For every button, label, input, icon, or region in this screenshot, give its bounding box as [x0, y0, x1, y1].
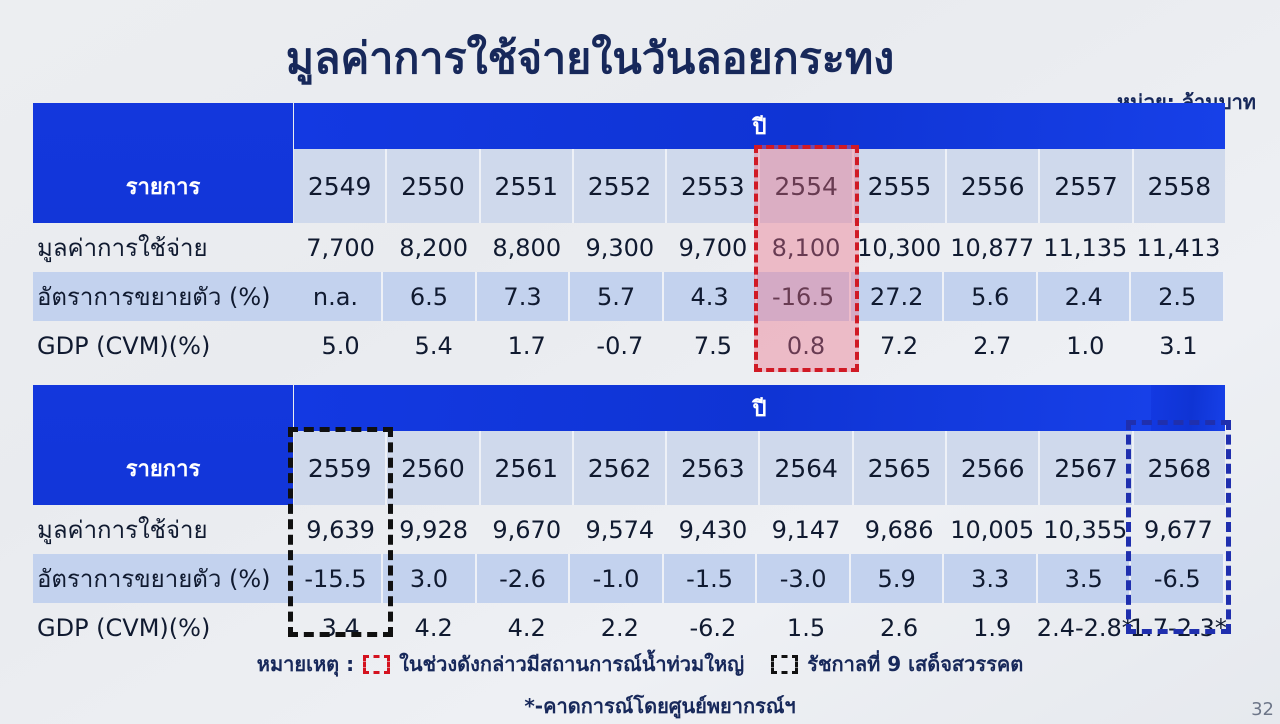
cell-gdp-2557: 1.0: [1039, 321, 1132, 370]
cell-spending-2553: 9,700: [666, 223, 759, 272]
cell-growth-rate-2560: 3.0: [383, 554, 477, 603]
cell-growth-rate-2562: -1.0: [570, 554, 664, 603]
row-label-growth-rate: อัตราการขยายตัว (%): [33, 554, 290, 603]
page-title: มูลค่าการใช้จ่ายในวันลอยกระทง: [0, 30, 1180, 88]
notes-line-1: หมายเหตุ : ในช่วงดังกล่าวมีสถานการณ์น้ำท…: [0, 648, 1280, 680]
cell-spending-2554: 8,100: [759, 223, 852, 272]
year-header-2554: 2554: [760, 149, 853, 223]
cell-gdp-2563: -6.2: [666, 603, 759, 652]
cell-growth-rate-2566: 3.3: [944, 554, 1038, 603]
cell-gdp-2558: 3.1: [1132, 321, 1225, 370]
year-header-2559: 2559: [294, 431, 387, 505]
cell-gdp-2551: 1.7: [480, 321, 573, 370]
cell-growth-rate-2563: -1.5: [664, 554, 758, 603]
notes-block: หมายเหตุ : ในช่วงดังกล่าวมีสถานการณ์น้ำท…: [0, 648, 1280, 722]
legend-black-dashed-icon: [771, 655, 798, 674]
year-header-2558: 2558: [1134, 149, 1225, 223]
cell-gdp-2564: 1.5: [759, 603, 852, 652]
slide-root: มูลค่าการใช้จ่ายในวันลอยกระทง หน่วย: ล้า…: [0, 0, 1280, 724]
cell-spending-2557: 11,135: [1039, 223, 1132, 272]
table1-item-header-label: รายการ: [33, 149, 293, 223]
cell-gdp-2562: 2.2: [573, 603, 666, 652]
year-header-2564: 2564: [760, 431, 853, 505]
cell-gdp-2553: 7.5: [666, 321, 759, 370]
cell-gdp-2567: 2.4-2.8*: [1039, 603, 1132, 652]
cell-spending-2555: 10,300: [853, 223, 946, 272]
year-header-2551: 2551: [481, 149, 574, 223]
year-header-2549: 2549: [294, 149, 387, 223]
cell-spending-2556: 10,877: [946, 223, 1039, 272]
year-header-2552: 2552: [574, 149, 667, 223]
cell-gdp-2568: 1.7-2.3*: [1132, 603, 1225, 652]
cell-spending-2558: 11,413: [1132, 223, 1225, 272]
cell-spending-2561: 9,670: [480, 505, 573, 554]
row-label-spending: มูลค่าการใช้จ่าย: [33, 223, 294, 272]
cell-gdp-2555: 7.2: [853, 321, 946, 370]
legend-black-text: รัชกาลที่ 9 เสด็จสวรรคต: [807, 648, 1023, 680]
cell-growth-rate-2567: 3.5: [1038, 554, 1132, 603]
table-row-growth-rate: อัตราการขยายตัว (%)n.a.6.57.35.74.3-16.5…: [33, 272, 1225, 321]
cell-growth-rate-2561: -2.6: [477, 554, 571, 603]
spending-table-part2: ปี รายการ 255925602561256225632564256525…: [33, 385, 1225, 431]
year-header-2563: 2563: [667, 431, 760, 505]
table-row-gdp: GDP (CVM)(%)3.44.24.22.2-6.21.52.61.92.4…: [33, 603, 1225, 652]
year-header-2553: 2553: [667, 149, 760, 223]
table1-year-band: [294, 103, 1225, 149]
table1-body: มูลค่าการใช้จ่าย7,7008,2008,8009,3009,70…: [33, 223, 1225, 370]
table-row-spending: มูลค่าการใช้จ่าย9,6399,9289,6709,5749,43…: [33, 505, 1225, 554]
year-header-2568: 2568: [1134, 431, 1225, 505]
cell-gdp-2554: 0.8: [759, 321, 852, 370]
table1-year-row: 2549255025512552255325542555255625572558: [294, 149, 1225, 223]
cell-spending-2552: 9,300: [573, 223, 666, 272]
cell-spending-2568: 9,677: [1132, 505, 1225, 554]
row-label-gdp: GDP (CVM)(%): [33, 603, 294, 652]
cell-spending-2566: 10,005: [946, 505, 1039, 554]
cell-spending-2564: 9,147: [759, 505, 852, 554]
cell-growth-rate-2565: 5.9: [851, 554, 945, 603]
table-row-growth-rate: อัตราการขยายตัว (%)-15.53.0-2.6-1.0-1.5-…: [33, 554, 1225, 603]
row-label-spending: มูลค่าการใช้จ่าย: [33, 505, 294, 554]
cell-growth-rate-2549: n.a.: [290, 272, 384, 321]
year-header-2562: 2562: [574, 431, 667, 505]
cell-growth-rate-2555: 27.2: [851, 272, 945, 321]
cell-gdp-2556: 2.7: [946, 321, 1039, 370]
cell-gdp-2552: -0.7: [573, 321, 666, 370]
cell-spending-2551: 8,800: [480, 223, 573, 272]
table2-year-row: 2559256025612562256325642565256625672568: [294, 431, 1225, 505]
notes-label: หมายเหตุ :: [257, 648, 354, 680]
table2-body: มูลค่าการใช้จ่าย9,6399,9289,6709,5749,43…: [33, 505, 1225, 652]
footnote-text: *-คาดการณ์โดยศูนย์พยากรณ์ฯ: [0, 690, 1280, 722]
cell-growth-rate-2564: -3.0: [757, 554, 851, 603]
legend-red-dashed-icon: [363, 655, 390, 674]
year-header-2565: 2565: [854, 431, 947, 505]
cell-gdp-2549: 5.0: [294, 321, 387, 370]
year-header-2550: 2550: [387, 149, 480, 223]
year-header-2566: 2566: [947, 431, 1040, 505]
table-row-spending: มูลค่าการใช้จ่าย7,7008,2008,8009,3009,70…: [33, 223, 1225, 272]
cell-gdp-2560: 4.2: [387, 603, 480, 652]
cell-growth-rate-2568: -6.5: [1131, 554, 1225, 603]
cell-growth-rate-2552: 5.7: [570, 272, 664, 321]
year-header-2556: 2556: [947, 149, 1040, 223]
cell-spending-2562: 9,574: [573, 505, 666, 554]
row-label-growth-rate: อัตราการขยายตัว (%): [33, 272, 290, 321]
cell-spending-2549: 7,700: [294, 223, 387, 272]
legend-red-text: ในช่วงดังกล่าวมีสถานการณ์น้ำท่วมใหญ่: [399, 648, 744, 680]
cell-growth-rate-2557: 2.4: [1038, 272, 1132, 321]
cell-growth-rate-2559: -15.5: [290, 554, 384, 603]
row-label-gdp: GDP (CVM)(%): [33, 321, 294, 370]
cell-growth-rate-2553: 4.3: [664, 272, 758, 321]
year-header-2560: 2560: [387, 431, 480, 505]
year-header-2557: 2557: [1040, 149, 1133, 223]
table2-year-band-tail: [1151, 385, 1225, 431]
cell-spending-2550: 8,200: [387, 223, 480, 272]
year-header-2561: 2561: [481, 431, 574, 505]
cell-spending-2565: 9,686: [853, 505, 946, 554]
cell-spending-2567: 10,355: [1039, 505, 1132, 554]
cell-gdp-2566: 1.9: [946, 603, 1039, 652]
cell-growth-rate-2550: 6.5: [383, 272, 477, 321]
table1-header-band: ปี รายการ: [33, 103, 1225, 149]
table2-item-header-label: รายการ: [33, 431, 293, 505]
page-number: 32: [1251, 699, 1274, 720]
cell-spending-2560: 9,928: [387, 505, 480, 554]
cell-gdp-2561: 4.2: [480, 603, 573, 652]
cell-growth-rate-2558: 2.5: [1131, 272, 1225, 321]
spending-table-part1: ปี รายการ 254925502551255225532554255525…: [33, 103, 1225, 149]
cell-spending-2559: 9,639: [294, 505, 387, 554]
cell-growth-rate-2554: -16.5: [757, 272, 851, 321]
cell-gdp-2550: 5.4: [387, 321, 480, 370]
cell-spending-2563: 9,430: [666, 505, 759, 554]
year-header-2555: 2555: [854, 149, 947, 223]
table-row-gdp: GDP (CVM)(%)5.05.41.7-0.77.50.87.22.71.0…: [33, 321, 1225, 370]
year-header-2567: 2567: [1040, 431, 1133, 505]
cell-growth-rate-2551: 7.3: [477, 272, 571, 321]
cell-growth-rate-2556: 5.6: [944, 272, 1038, 321]
table2-year-band-main: [294, 385, 1151, 431]
table2-header-band: ปี รายการ: [33, 385, 1225, 431]
title-row: มูลค่าการใช้จ่ายในวันลอยกระทง หน่วย: ล้า…: [0, 30, 1280, 90]
cell-gdp-2559: 3.4: [294, 603, 387, 652]
cell-gdp-2565: 2.6: [853, 603, 946, 652]
